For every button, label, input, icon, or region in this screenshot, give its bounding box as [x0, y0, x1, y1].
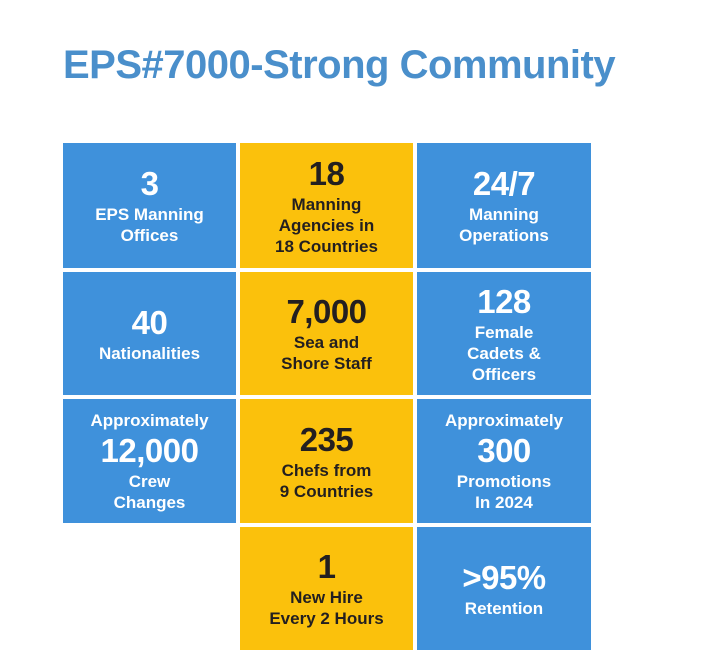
stat-label: Nationalities: [99, 343, 200, 364]
stat-card-eps-manning-offices: 3 EPS Manning Offices: [63, 143, 236, 268]
stat-card-chefs: 235 Chefs from 9 Countries: [240, 399, 413, 523]
stat-label: Manning Operations: [459, 204, 549, 246]
stat-grid-empty-slot: [63, 527, 236, 650]
stat-card-crew-changes: Approximately 12,000 Crew Changes: [63, 399, 236, 523]
infographic-page: EPS#7000-Strong Community 3 EPS Manning …: [0, 0, 723, 651]
stat-label: EPS Manning Offices: [95, 204, 204, 246]
stat-label: Promotions In 2024: [457, 471, 551, 513]
stat-card-manning-operations: 24/7 Manning Operations: [417, 143, 591, 268]
stat-value: 12,000: [101, 432, 199, 470]
stat-value: 18: [309, 155, 345, 193]
stat-card-manning-agencies: 18 Manning Agencies in 18 Countries: [240, 143, 413, 268]
stat-label: Crew Changes: [114, 471, 186, 513]
stat-label: Female Cadets & Officers: [467, 322, 541, 385]
stat-label: Manning Agencies in 18 Countries: [275, 194, 378, 257]
stat-value: >95%: [462, 559, 545, 597]
stat-value: 7,000: [286, 293, 366, 331]
stat-value: 128: [477, 283, 531, 321]
stat-label: Chefs from 9 Countries: [280, 460, 374, 502]
stat-label: Sea and Shore Staff: [281, 332, 372, 374]
stat-prefix: Approximately: [445, 410, 563, 431]
stat-card-promotions: Approximately 300 Promotions In 2024: [417, 399, 591, 523]
stat-label: Retention: [465, 598, 543, 619]
stat-card-female-cadets-officers: 128 Female Cadets & Officers: [417, 272, 591, 395]
stat-value: 3: [141, 165, 159, 203]
stat-value: 235: [300, 421, 354, 459]
page-title: EPS#7000-Strong Community: [63, 40, 683, 90]
stat-card-retention: >95% Retention: [417, 527, 591, 650]
stat-value: 300: [477, 432, 531, 470]
stat-value: 40: [132, 304, 168, 342]
stat-value: 1: [318, 548, 336, 586]
stat-card-new-hire: 1 New Hire Every 2 Hours: [240, 527, 413, 650]
stat-card-nationalities: 40 Nationalities: [63, 272, 236, 395]
stat-value: 24/7: [473, 165, 535, 203]
stat-card-sea-and-shore-staff: 7,000 Sea and Shore Staff: [240, 272, 413, 395]
stats-grid: 3 EPS Manning Offices 18 Manning Agencie…: [63, 143, 583, 650]
stat-prefix: Approximately: [90, 410, 208, 431]
stat-label: New Hire Every 2 Hours: [269, 587, 383, 629]
